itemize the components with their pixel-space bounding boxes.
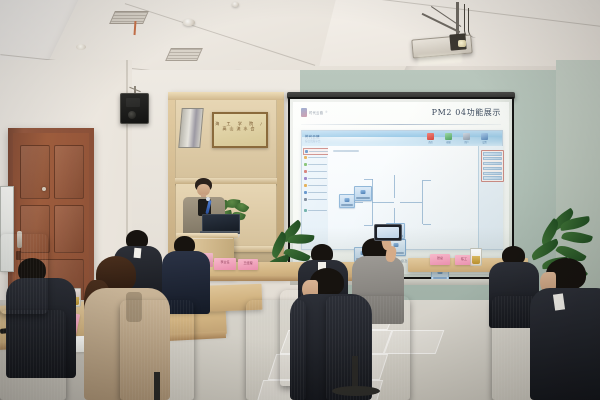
chair-front-2[interactable]	[326, 296, 410, 400]
downlight-1	[76, 44, 86, 50]
shelf-top	[168, 92, 284, 100]
microphone-head	[206, 197, 210, 201]
smoke-detector-1	[183, 19, 195, 26]
toolbar-item-settings[interactable]: 设置	[478, 133, 491, 145]
projector-glow	[418, 52, 463, 65]
chair-base-1	[332, 386, 380, 396]
wall-plaque: 海 工 学 院 / 高山流水会	[212, 112, 268, 148]
toolbar-item-home[interactable]: 首页	[424, 133, 437, 145]
namecard-1: 王经理	[238, 259, 258, 270]
door-peephole	[42, 187, 46, 191]
ceiling-projector	[398, 2, 518, 74]
ceiling-vent-1	[109, 11, 149, 24]
projector-lens	[458, 40, 466, 47]
namecard-0: 李主任	[214, 258, 236, 270]
toolbar-item-user[interactable]: 用户	[460, 133, 473, 145]
toolbar-item-edit[interactable]: 编辑	[442, 133, 455, 145]
books-stack	[178, 108, 203, 148]
sprinkler-head-1	[232, 2, 239, 7]
app-toolbar: 首页 编辑 用户 设置	[424, 133, 498, 145]
attendee-front-right-2	[536, 258, 600, 400]
namecard-2: 张总	[430, 254, 450, 265]
ceiling-vent-2	[165, 48, 203, 61]
glass-4	[470, 248, 482, 266]
chair-left-back[interactable]	[0, 234, 48, 314]
chair-front-4[interactable]	[246, 300, 306, 400]
conference-room-photo: 海 工 学 院 / 高山流水会 时代云链 ® PM2 0	[0, 0, 600, 400]
chair-stem-2	[154, 372, 160, 400]
mobile-phone[interactable]	[374, 224, 402, 241]
ceiling-speaker	[118, 86, 152, 126]
chair-front-3[interactable]	[0, 310, 66, 400]
